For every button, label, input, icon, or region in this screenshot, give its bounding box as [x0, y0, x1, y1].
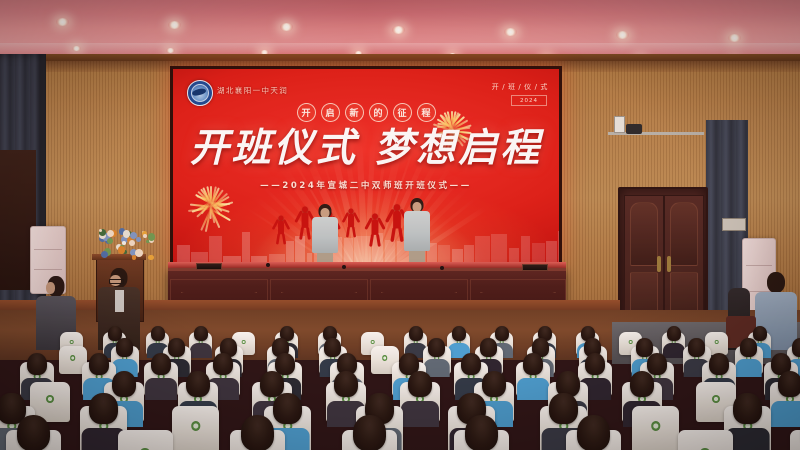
chair-logo-icon — [370, 340, 375, 345]
audience-member-head — [482, 371, 506, 397]
audience-member-head — [549, 393, 577, 424]
chair-logo-icon — [628, 340, 633, 345]
glasses-icon — [109, 279, 124, 284]
auditorium-scene: 湖北襄阳一中天润 开 / 班 / 仪 / 式 2024 开启新的征程 开班仪式 … — [0, 0, 800, 450]
audience-member-head — [17, 415, 50, 450]
audience-member-head — [452, 326, 466, 341]
celebrating-silhouette — [344, 209, 358, 238]
chair-logo-icon — [714, 340, 719, 345]
audience-member-head — [709, 353, 729, 375]
audience-member-head — [116, 338, 133, 356]
audience-member-head — [465, 415, 498, 450]
audience-member-head — [428, 338, 445, 356]
audience-member-head — [168, 338, 185, 356]
audience-member-shoulders — [190, 343, 212, 358]
flower — [101, 251, 108, 258]
skyline-building — [344, 238, 353, 263]
flower — [107, 238, 113, 244]
headline-pill-row: 开启新的征程 — [173, 103, 559, 122]
led-screen-content: 湖北襄阳一中天润 开 / 班 / 仪 / 式 2024 开启新的征程 开班仪式 … — [173, 69, 559, 263]
flower — [107, 230, 114, 237]
audience-member-head — [409, 326, 423, 341]
audience-chair[interactable] — [172, 406, 219, 450]
audience-member-head — [792, 338, 800, 356]
audience-member-shoulders — [401, 401, 439, 427]
chair-logo-icon — [46, 395, 54, 403]
wall-top-trim — [0, 54, 800, 61]
headline-pill: 新 — [345, 103, 364, 122]
flower — [148, 255, 153, 260]
audience-member-shoulders — [663, 343, 685, 358]
skyline-building — [438, 245, 450, 263]
audience-member-head — [523, 353, 543, 375]
audience-member-head — [647, 353, 667, 375]
flower — [122, 241, 126, 245]
chair-logo-icon — [651, 421, 660, 430]
audience-member-head — [408, 371, 432, 397]
audience-member-shoulders — [735, 359, 762, 377]
flower — [136, 237, 141, 242]
table-nameplate-2 — [522, 264, 548, 271]
audience-member-shoulders — [771, 401, 800, 427]
audience-member-head — [495, 326, 509, 341]
skyline-building — [509, 248, 519, 263]
stage-student-left — [310, 204, 340, 270]
audience-member-head — [324, 338, 341, 356]
audience-member-head — [334, 371, 358, 397]
audience-member-head — [688, 338, 705, 356]
audience-member-head — [577, 415, 610, 450]
table-nameplate-1 — [196, 263, 222, 270]
audience-member-head — [740, 338, 757, 356]
headline-pill: 的 — [369, 103, 388, 122]
flower — [148, 233, 156, 241]
table-microphone-1 — [266, 263, 270, 267]
ceiling-light-band — [0, 43, 800, 54]
skyline-building — [546, 241, 557, 263]
chair-logo-icon — [70, 355, 76, 361]
corner-ceremony-label: 开 / 班 / 仪 / 式 — [492, 82, 548, 92]
downlight — [616, 31, 629, 39]
audience-member-shoulders — [517, 378, 549, 400]
downlight — [72, 46, 81, 51]
table-microphone-3 — [440, 266, 444, 270]
school-name-label: 湖北襄阳一中天润 — [217, 85, 288, 96]
flower-arrangement — [96, 228, 156, 262]
rail-sensor — [614, 116, 625, 133]
audience-chair[interactable] — [632, 406, 679, 450]
audience-member-head — [186, 371, 210, 397]
camera-icon — [626, 124, 642, 134]
downlight — [56, 18, 69, 26]
audience-member-head — [461, 353, 481, 375]
skyline-building — [521, 236, 530, 263]
audience-member-head — [273, 393, 301, 424]
audience-member-head — [630, 371, 654, 397]
audience-member-head — [733, 393, 761, 424]
flower — [130, 232, 137, 239]
audience-member-head — [151, 353, 171, 375]
skyline-building — [242, 232, 250, 263]
skyline-building — [295, 236, 305, 263]
audience-member-head — [213, 353, 233, 375]
table-microphone-2 — [342, 265, 346, 269]
audience-member-head — [89, 353, 109, 375]
headline-pill: 征 — [393, 103, 412, 122]
flower — [143, 234, 147, 238]
banner-subtitle: ——2024年宣城二中双师班开班仪式—— — [173, 179, 559, 191]
celebrating-silhouette — [274, 216, 288, 245]
audience-member-head — [112, 371, 136, 397]
audience-member-head — [480, 338, 497, 356]
audience-member-head — [89, 393, 117, 424]
skyline-building — [475, 236, 490, 263]
audience-member-head — [194, 326, 208, 341]
chair-logo-icon — [241, 340, 246, 345]
celebrating-silhouette — [367, 213, 383, 246]
audience-member-head — [667, 326, 681, 341]
skyline-building — [532, 243, 545, 263]
chair-logo-icon — [69, 340, 74, 345]
city-skyline-graphic — [173, 229, 559, 263]
skyline-building — [491, 234, 507, 263]
skyline-building — [177, 245, 190, 263]
chair-logo-icon — [191, 421, 200, 430]
audience-member-head — [753, 326, 767, 341]
audience-chair[interactable] — [118, 430, 173, 450]
skyline-building — [209, 236, 222, 263]
flower — [118, 246, 125, 253]
skyline-building — [452, 249, 463, 263]
audience-member-head — [260, 371, 284, 397]
audience-member-head — [585, 353, 605, 375]
chair-logo-icon — [382, 355, 388, 361]
led-stage-screen: 湖北襄阳一中天润 开 / 班 / 仪 / 式 2024 开启新的征程 开班仪式 … — [170, 66, 562, 266]
audience-member-head — [151, 326, 165, 341]
skyline-building — [558, 231, 559, 263]
audience-chair[interactable] — [678, 430, 733, 450]
flower — [129, 240, 135, 246]
audience-member-head — [241, 415, 274, 450]
stage-student-right — [402, 198, 432, 270]
skyline-building — [464, 245, 474, 263]
wall-control-panel[interactable] — [722, 218, 746, 231]
headline-pill: 启 — [321, 103, 340, 122]
flower — [135, 249, 143, 257]
audience-chair[interactable] — [790, 430, 800, 450]
audience-member-head — [353, 415, 386, 450]
downlight — [166, 48, 175, 53]
skyline-building — [385, 240, 395, 263]
audience-member-head — [275, 353, 295, 375]
headline-pill: 开 — [297, 103, 316, 122]
banner-main-title: 开班仪式 梦想启程 — [173, 129, 559, 168]
audience-member-shoulders — [145, 378, 177, 400]
audience-member-head — [27, 353, 47, 375]
downlight — [728, 34, 741, 42]
chair-logo-icon — [712, 395, 720, 403]
downlight — [168, 21, 181, 29]
audience-member-head — [778, 371, 800, 397]
downlight — [392, 26, 405, 34]
